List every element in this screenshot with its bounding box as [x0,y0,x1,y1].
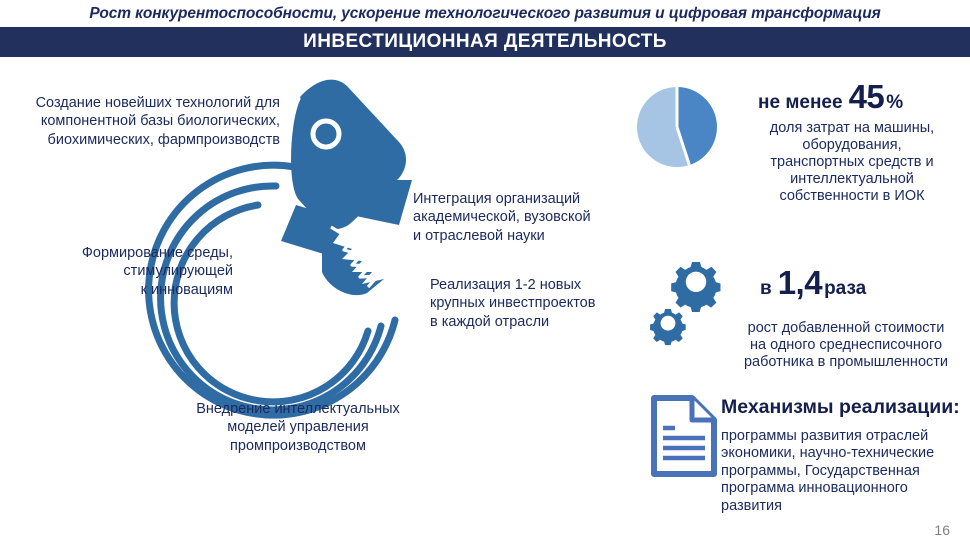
mechanisms-title: Механизмы реализации: [721,396,960,419]
slide-title-bar: ИНВЕСТИЦИОННАЯ ДЕЯТЕЛЬНОСТЬ [0,27,970,57]
stat-share-prefix: не менее [758,92,843,114]
kicker-text: Рост конкурентоспособности, ускорение те… [89,5,880,23]
stat-growth-caption: рост добавленной стоимости на одного сре… [722,320,970,371]
page-number: 16 [934,522,950,538]
cycle-label-models: Внедрение интеллектуальных моделей управ… [166,400,430,455]
stat-growth-prefix: в [760,278,772,300]
cycle-label-integration: Интеграция организаций академической, ву… [413,190,628,245]
pie-chart-icon [637,87,717,167]
cycle-label-tech: Создание новейших технологий для компоне… [8,94,280,149]
cycle-label-env: Формирование среды, стимулирующей к инно… [8,244,233,299]
stat-share-value: 45 [843,78,885,116]
stat-growth-value: 1,4 [772,264,822,302]
mechanisms-body: программы развития отраслей экономики, н… [721,428,970,515]
stat-growth-figure: в 1,4 раза [760,264,866,302]
document-icon [654,398,714,474]
stat-share-figure: не менее 45 % [758,78,903,116]
gears-icon [650,262,720,345]
stat-share-suffix: % [884,92,903,114]
stat-growth-suffix: раза [822,278,866,300]
stat-share-caption: доля затрат на машины, оборудования, тра… [734,120,970,206]
slide-root: Рост конкурентоспособности, ускорение те… [0,0,970,546]
cycle-label-projects: Реализация 1-2 новых крупных инвестпроек… [430,276,630,331]
page-title: ИНВЕСТИЦИОННАЯ ДЕЯТЕЛЬНОСТЬ [303,31,667,53]
rocket-icon [281,80,412,296]
slide-kicker: Рост конкурентоспособности, ускорение те… [0,0,970,27]
